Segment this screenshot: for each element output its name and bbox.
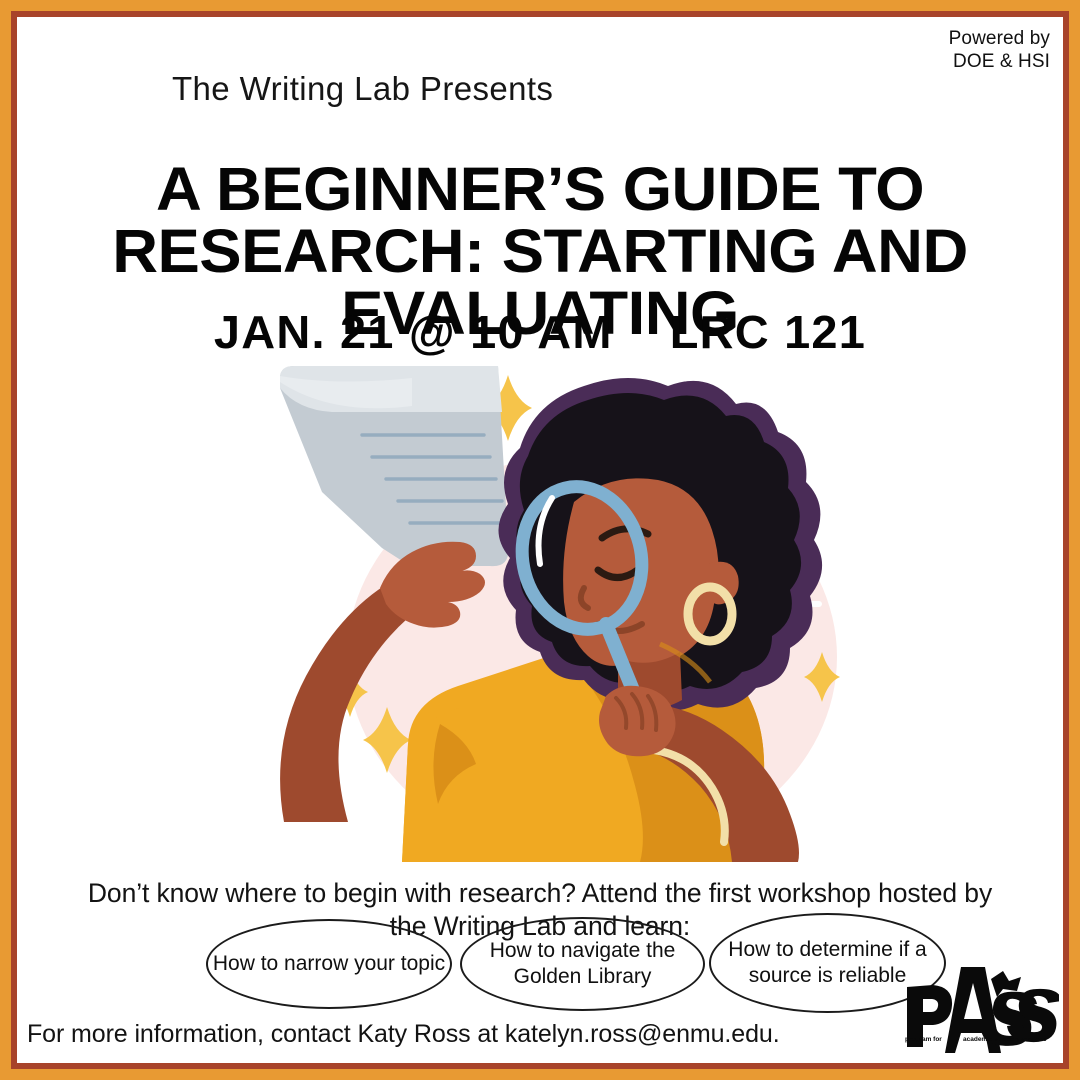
pass-tagline-right: academic support services	[963, 1036, 1047, 1043]
pass-tagline-left: program for	[905, 1036, 942, 1043]
hero-illustration	[262, 352, 862, 862]
powered-by-badge: Powered by DOE & HSI	[949, 27, 1050, 73]
powered-by-line2: DOE & HSI	[949, 50, 1050, 73]
eyebrow-text: The Writing Lab Presents	[172, 70, 553, 108]
document-illustration	[280, 366, 509, 566]
poster-canvas: Powered by DOE & HSI The Writing Lab Pre…	[0, 0, 1080, 1080]
powered-by-line1: Powered by	[949, 27, 1050, 50]
event-datetime-location: JAN. 21 @ 10 AM LRC 121	[17, 305, 1063, 359]
contact-info: For more information, contact Katy Ross …	[27, 1018, 780, 1051]
pass-logo: program for academic support services	[899, 961, 1059, 1057]
topic-bubble: How to navigate the Golden Library	[460, 917, 705, 1011]
topic-bubble: How to narrow your topic	[206, 919, 452, 1009]
poster-card: Powered by DOE & HSI The Writing Lab Pre…	[17, 17, 1063, 1063]
